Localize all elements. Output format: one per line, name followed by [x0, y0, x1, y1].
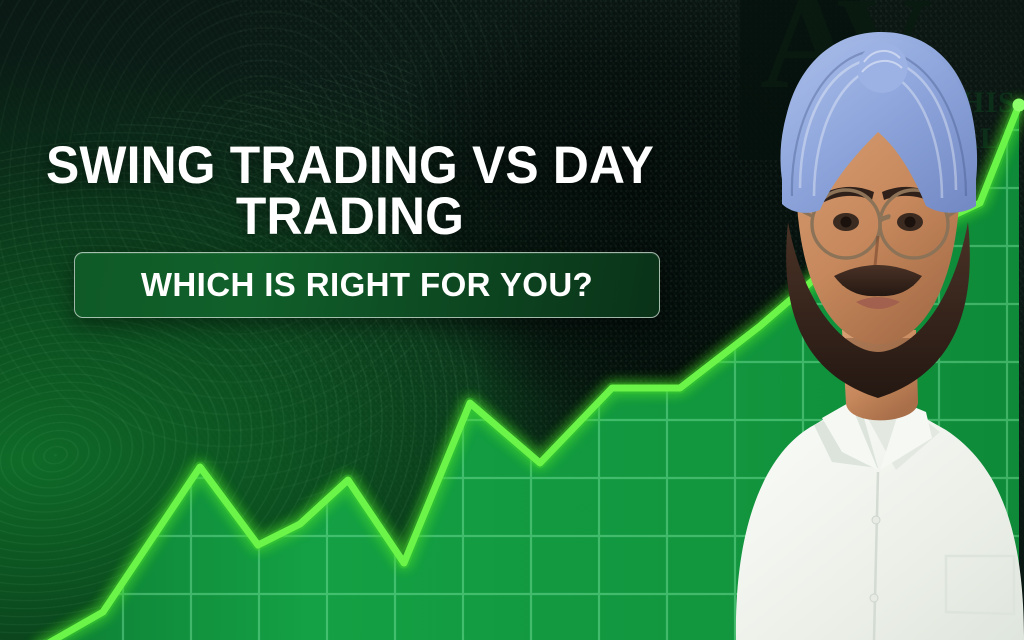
headline-line-1: SWING TRADING VS DAY: [21, 140, 679, 192]
presenter-photo: [664, 0, 1024, 640]
thumbnail-canvas: AV THIS FOR ALL: [0, 0, 1024, 640]
headline-line-2: TRADING: [21, 191, 679, 243]
subtitle-badge-label: WHICH IS RIGHT FOR YOU?: [141, 266, 593, 304]
presenter-illustration: [664, 0, 1024, 640]
presenter-shirt: [736, 402, 1024, 640]
subtitle-badge: WHICH IS RIGHT FOR YOU?: [74, 252, 660, 318]
page-title: SWING TRADING VS DAY TRADING: [21, 140, 679, 244]
